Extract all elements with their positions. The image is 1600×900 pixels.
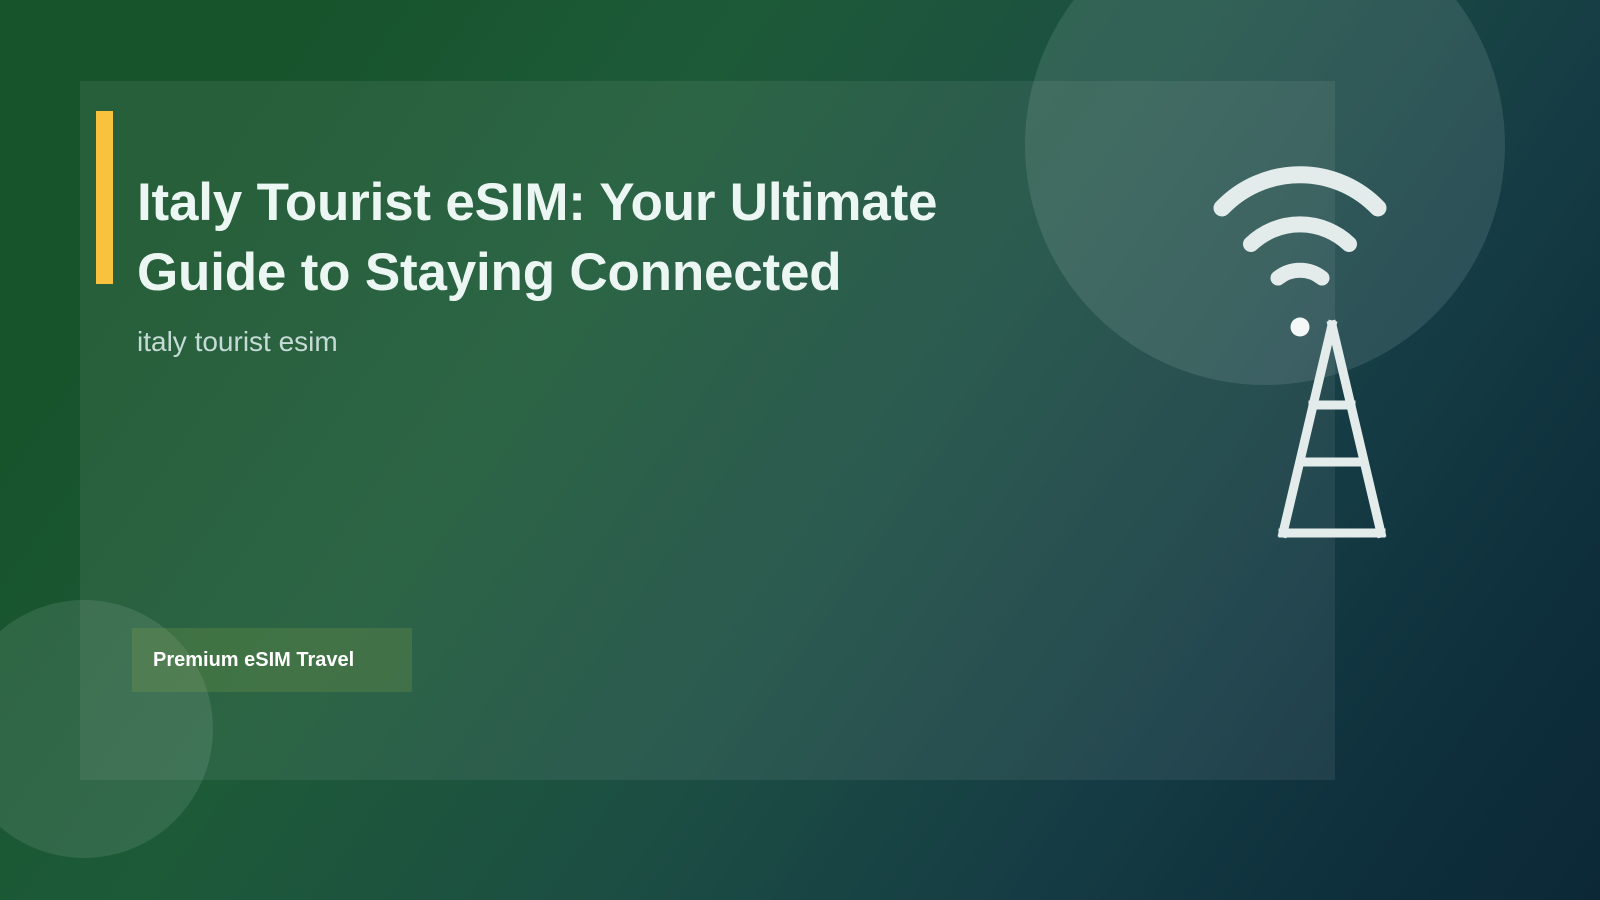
brand-badge: Premium eSIM Travel <box>132 628 412 692</box>
page-title: Italy Tourist eSIM: Your Ultimate Guide … <box>137 168 1117 308</box>
page-subtitle: italy tourist esim <box>137 325 1117 359</box>
headline-block: Italy Tourist eSIM: Your Ultimate Guide … <box>137 168 1117 359</box>
brand-badge-label: Premium eSIM Travel <box>153 649 354 672</box>
hero-slide: Italy Tourist eSIM: Your Ultimate Guide … <box>0 0 1600 900</box>
accent-bar <box>96 111 113 284</box>
